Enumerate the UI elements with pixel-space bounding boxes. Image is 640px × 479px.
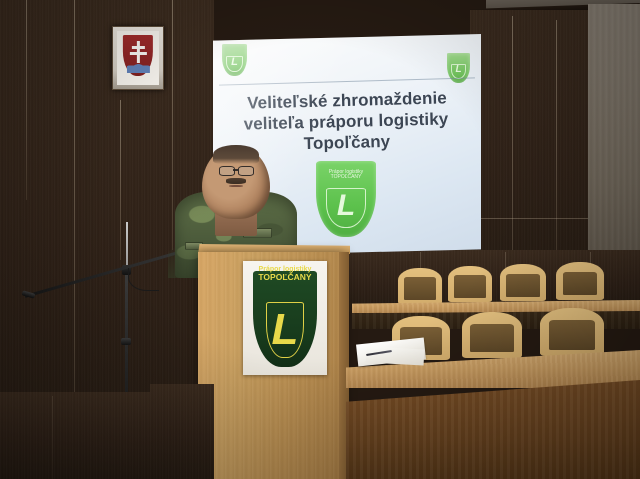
coat-of-arms-cross-upper-bar: [132, 46, 145, 49]
crest-letter: L: [231, 57, 238, 68]
speaker-hair: [213, 145, 258, 164]
speaker-head: [202, 146, 270, 219]
crest-band: [224, 46, 246, 54]
foreground-bench-left-back: [150, 384, 214, 479]
speaker-mustache: [226, 178, 245, 183]
prapor-logistiky-shield-icon: Prápor logistiky TOPOĽČANY L: [316, 161, 376, 237]
speaker-glasses-left-lens: [219, 166, 235, 176]
wall-seam: [470, 218, 590, 219]
wall-seam: [26, 0, 27, 200]
wall-panel-right: [470, 10, 590, 290]
chair-backrest-opening: [454, 275, 486, 297]
shield-band: Prápor logistiky TOPOĽČANY: [320, 166, 373, 186]
wall-seam: [512, 16, 513, 286]
microphone-stand-base-joint: [121, 338, 131, 345]
chair-backrest-opening: [470, 324, 513, 353]
chair-front-3: [540, 308, 604, 356]
wall-seam: [120, 100, 121, 260]
shield-band-line-2: TOPOĽČANY: [331, 175, 362, 180]
podium-poster-letter: L: [272, 308, 299, 352]
unit-crest-left-icon: L: [222, 44, 247, 76]
conference-hall-photo: L L Veliteľské zhromaždenie veliteľa prá…: [0, 0, 640, 479]
chair-backrest-opening: [563, 272, 598, 296]
chair-back-4: [556, 262, 604, 300]
coat-of-arms-cross-lower-bar: [130, 52, 146, 55]
chair-backrest-opening: [404, 277, 436, 299]
shield-letter: L: [337, 191, 355, 221]
speaker-glasses-bridge: [233, 169, 238, 171]
chair-front-2: [462, 312, 522, 358]
speaker-mouth: [229, 185, 243, 187]
podium-poster-text: Prápor logistiky TOPOĽČANY: [246, 266, 323, 283]
table-front-panel: [346, 380, 640, 479]
wall-seam: [556, 20, 557, 285]
slovak-coat-of-arms: [112, 26, 164, 90]
chair-back-2: [448, 266, 492, 302]
coat-of-arms-hills: [127, 61, 150, 73]
coat-of-arms-shield: [123, 35, 153, 76]
podium-poster-line-2: TOPOĽČANY: [246, 273, 323, 283]
speaker-glasses-right-lens: [238, 166, 254, 176]
chair-back-3: [500, 264, 546, 301]
podium-poster: L Prápor logistiky TOPOĽČANY: [243, 261, 327, 375]
papers-second-sheet: [366, 346, 425, 365]
slide-rule-top: [219, 77, 475, 85]
chair-back-1: [398, 268, 442, 304]
chair-backrest-opening: [549, 320, 595, 350]
chair-backrest-opening: [506, 274, 539, 297]
crest-letter: L: [455, 65, 461, 75]
podium-poster-shield: L: [253, 271, 317, 367]
coat-of-arms-inner: [117, 31, 159, 85]
bench-seam: [52, 396, 53, 479]
foreground-bench-left: [0, 392, 160, 479]
wall-seam: [172, 0, 173, 250]
